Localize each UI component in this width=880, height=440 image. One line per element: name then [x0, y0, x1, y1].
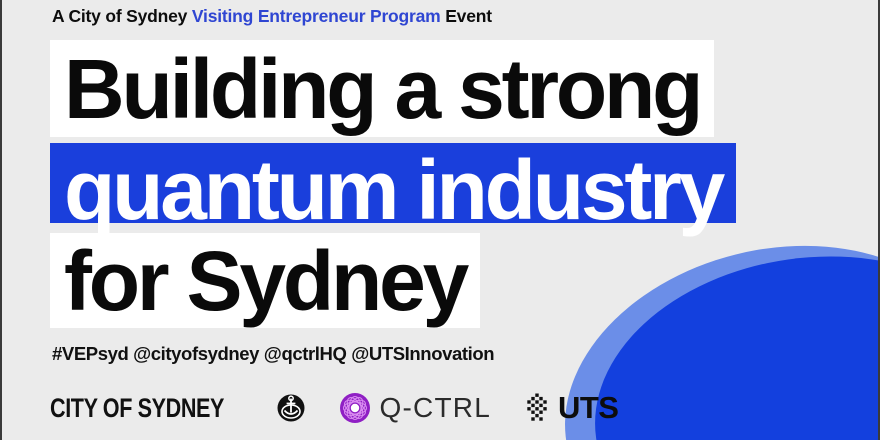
- city-of-sydney-wordmark: CITY OF SYDNEY: [50, 393, 224, 424]
- eyebrow-line: A City of Sydney Visiting Entrepreneur P…: [52, 6, 492, 27]
- headline-line-2: quantum industry: [50, 143, 736, 223]
- eyebrow-program-name: Visiting Entrepreneur Program: [192, 6, 441, 26]
- headline-line-3: for Sydney: [50, 233, 480, 328]
- city-of-sydney-crest-icon: [277, 394, 305, 422]
- social-handles: #VEPsyd @cityofsydney @qctrlHQ @UTSInnov…: [52, 343, 494, 365]
- logo-city-of-sydney: CITY OF SYDNEY: [50, 388, 305, 428]
- headline-line-1: Building a strong: [50, 40, 714, 137]
- uts-diamond-icon: [525, 392, 549, 424]
- qctrl-wordmark: Q-CTRL: [380, 392, 491, 424]
- eyebrow-prefix: A City of Sydney: [52, 6, 192, 26]
- poster-content: A City of Sydney Visiting Entrepreneur P…: [2, 0, 880, 440]
- headline-line-2-text: quantum industry: [64, 147, 722, 233]
- eyebrow-suffix: Event: [441, 6, 492, 26]
- qctrl-atom-icon: [339, 392, 371, 424]
- event-poster: A City of Sydney Visiting Entrepreneur P…: [0, 0, 880, 440]
- uts-wordmark: UTS: [558, 390, 619, 426]
- logo-uts: UTS: [525, 388, 619, 428]
- logo-q-ctrl: Q-CTRL: [339, 388, 491, 428]
- partner-logo-row: CITY OF SYDNEY: [50, 385, 618, 431]
